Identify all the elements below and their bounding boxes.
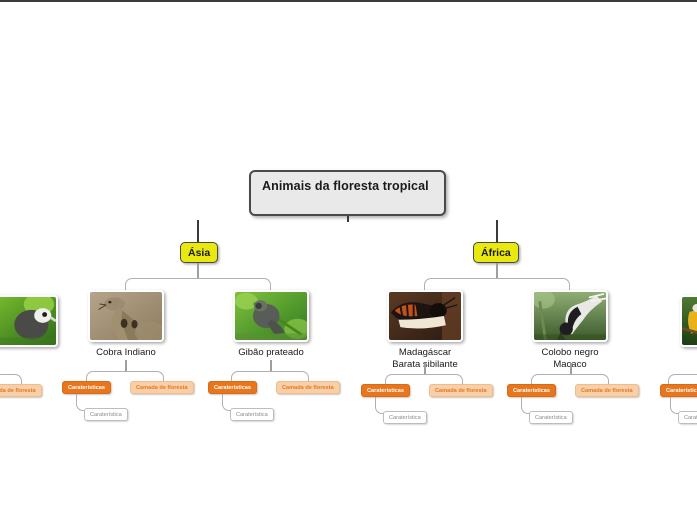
leaf-label: Caraterísticas	[513, 388, 550, 394]
branch-stem-africa	[496, 220, 498, 242]
leaf-label: Caraterísticas	[214, 385, 251, 391]
africa-stem	[496, 263, 498, 279]
bird-green-partial-photo[interactable]	[0, 295, 58, 347]
branch-node-asia[interactable]: Ásia	[180, 242, 218, 263]
cobra-photo[interactable]	[88, 290, 164, 342]
asia-stem	[197, 263, 199, 279]
leaf-features-colobus[interactable]: Caraterísticas	[507, 384, 556, 397]
leaf-label: Caraterísticas	[666, 388, 697, 394]
leaf-forest-layer-cockroach[interactable]: Camada de floresta	[429, 384, 493, 397]
leaf-label: Camada de floresta	[435, 388, 487, 394]
root-node-label: Animais da floresta tropical	[262, 179, 429, 193]
leaf-forest-layer-colobus[interactable]: Camada de floresta	[575, 384, 639, 397]
animal-node-colobus[interactable]: Colobo negro Macaco	[532, 290, 610, 370]
animal-node-partial-right[interactable]	[680, 295, 697, 347]
animal-label-cobra: Cobra Indiano	[86, 347, 166, 359]
animal-node-cockroach[interactable]: Madagáscar Barata sibilante	[387, 290, 465, 370]
leaf-label: Caraterísticas	[68, 385, 105, 391]
leaf-label: Caraterística	[684, 415, 697, 421]
leaf-features-partial-right[interactable]: Caraterísticas	[660, 384, 697, 397]
trunk-line	[0, 0, 697, 2]
leaf-feature-cockroach-child[interactable]: Caraterística	[383, 411, 427, 424]
leaf-feature-cobra-child[interactable]: Caraterística	[84, 408, 128, 421]
branch-node-africa[interactable]: África	[473, 242, 519, 263]
mindmap-canvas: Animais da floresta tropical Ásia África	[0, 0, 697, 520]
leaf-label: Camada de floresta	[0, 388, 36, 394]
leaf-features-cockroach[interactable]: Caraterísticas	[361, 384, 410, 397]
leaf-label: Caraterística	[236, 412, 268, 418]
leaf-forest-layer-cobra[interactable]: Camada de floresta	[130, 381, 194, 394]
root-stem	[347, 216, 349, 222]
branch-stem-asia	[197, 220, 199, 242]
branch-label-africa: África	[481, 247, 511, 259]
macaw-photo[interactable]	[680, 295, 697, 347]
leaf-feature-partial-right-child[interactable]: Caraterística	[678, 411, 697, 424]
animal-node-cobra[interactable]: Cobra Indiano	[88, 290, 166, 359]
animal-label-gibbon: Gibão prateado	[231, 347, 311, 359]
colobus-monkey-photo[interactable]	[532, 290, 608, 342]
leaf-label: Camada de floresta	[282, 385, 334, 391]
root-node[interactable]: Animais da floresta tropical	[249, 170, 446, 216]
asia-elbow	[125, 278, 271, 290]
leaf-forest-layer-partial-left[interactable]: Camada de floresta	[0, 384, 42, 397]
leaf-label: Caraterísticas	[367, 388, 404, 394]
leaf-label: Caraterística	[389, 415, 421, 421]
leaf-feature-colobus-child[interactable]: Caraterística	[529, 411, 573, 424]
leaf-features-cobra[interactable]: Caraterísticas	[62, 381, 111, 394]
leaf-features-gibbon[interactable]: Caraterísticas	[208, 381, 257, 394]
africa-elbow	[424, 278, 570, 290]
leaf-forest-layer-gibbon[interactable]: Camada de floresta	[276, 381, 340, 394]
leaf-label: Caraterística	[535, 415, 567, 421]
gibbon-photo[interactable]	[233, 290, 309, 342]
animal-node-partial-left[interactable]	[0, 295, 58, 347]
leaf-label: Camada de floresta	[136, 385, 188, 391]
leaf-label: Camada de floresta	[581, 388, 633, 394]
branch-label-asia: Ásia	[188, 247, 210, 259]
cockroach-photo[interactable]	[387, 290, 463, 342]
leaf-feature-gibbon-child[interactable]: Caraterística	[230, 408, 274, 421]
leaf-label: Caraterística	[90, 412, 122, 418]
animal-node-gibbon[interactable]: Gibão prateado	[233, 290, 311, 359]
